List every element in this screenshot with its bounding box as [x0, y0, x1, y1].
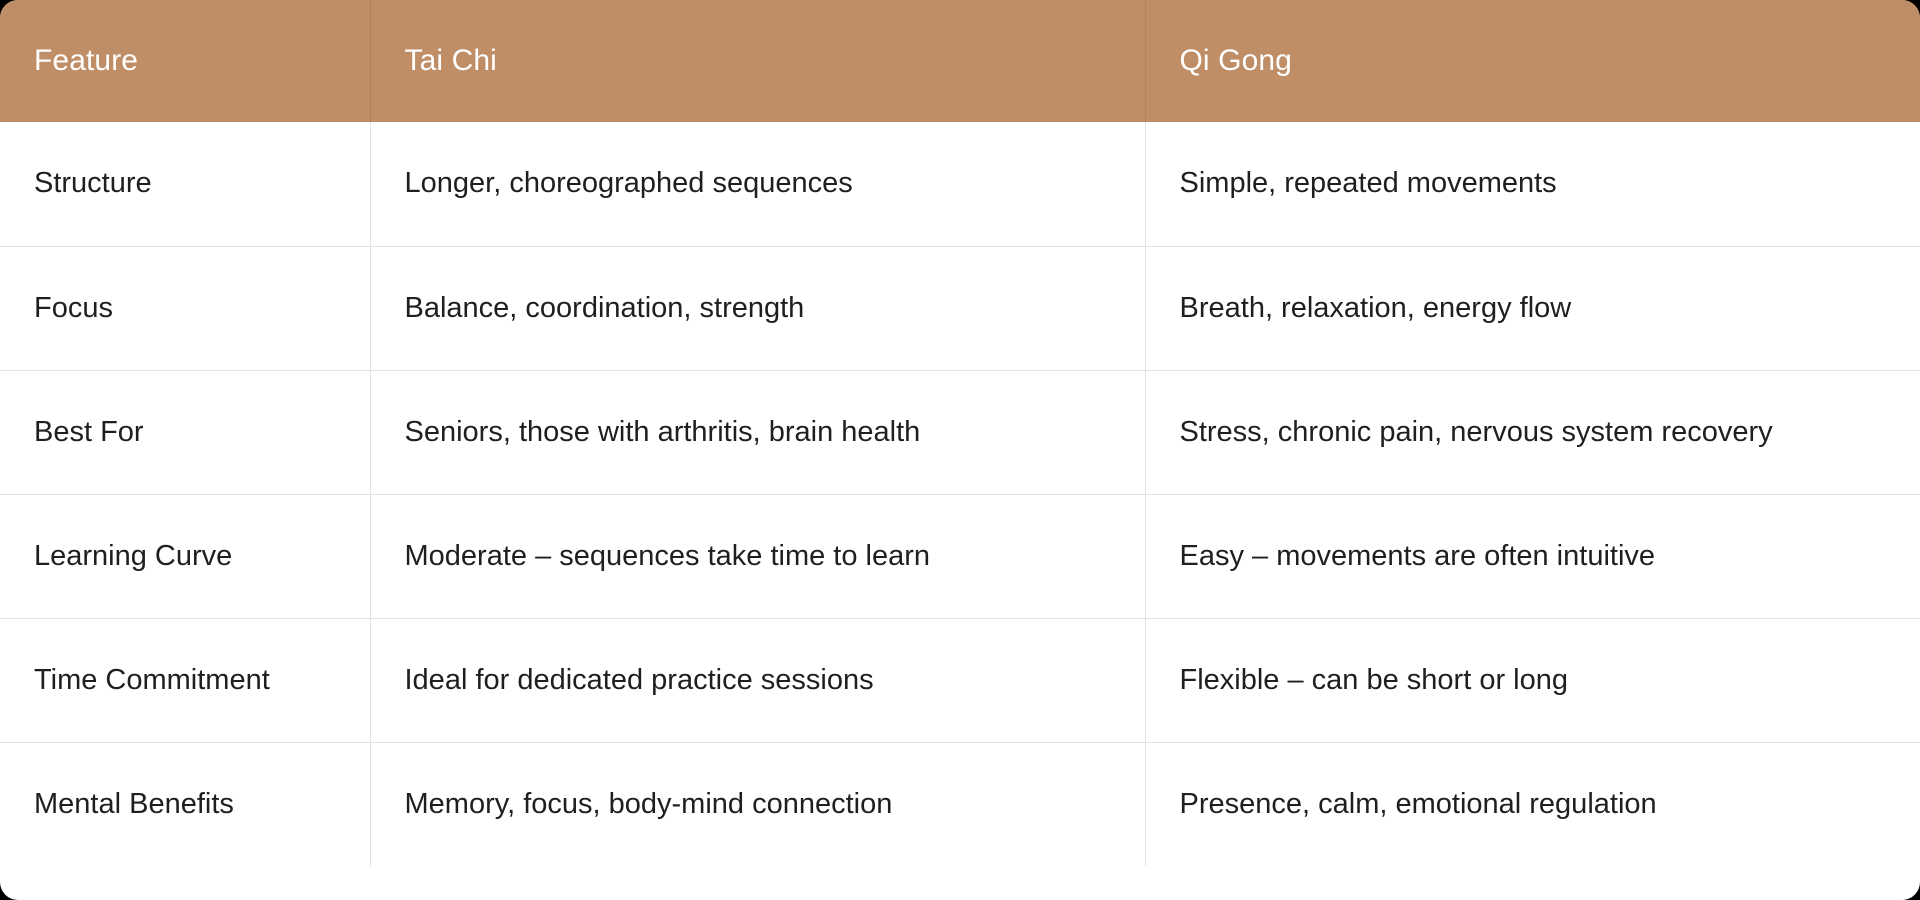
cell-feature: Learning Curve [0, 494, 370, 618]
cell-qi-gong: Breath, relaxation, energy flow [1145, 246, 1920, 370]
table-row: Structure Longer, choreographed sequence… [0, 122, 1920, 246]
cell-feature: Best For [0, 370, 370, 494]
cell-qi-gong: Presence, calm, emotional regulation [1145, 742, 1920, 866]
table-row: Focus Balance, coordination, strength Br… [0, 246, 1920, 370]
column-header-feature: Feature [0, 0, 370, 122]
table-row: Mental Benefits Memory, focus, body-mind… [0, 742, 1920, 866]
cell-qi-gong: Stress, chronic pain, nervous system rec… [1145, 370, 1920, 494]
table-row: Time Commitment Ideal for dedicated prac… [0, 618, 1920, 742]
table-body: Structure Longer, choreographed sequence… [0, 122, 1920, 866]
cell-qi-gong: Flexible – can be short or long [1145, 618, 1920, 742]
cell-feature: Time Commitment [0, 618, 370, 742]
table-header: Feature Tai Chi Qi Gong [0, 0, 1920, 122]
comparison-table-card: Feature Tai Chi Qi Gong Structure Longer… [0, 0, 1920, 900]
table-header-row: Feature Tai Chi Qi Gong [0, 0, 1920, 122]
cell-tai-chi: Memory, focus, body-mind connection [370, 742, 1145, 866]
cell-tai-chi: Seniors, those with arthritis, brain hea… [370, 370, 1145, 494]
cell-feature: Mental Benefits [0, 742, 370, 866]
tai-chi-qi-gong-comparison-table: Feature Tai Chi Qi Gong Structure Longer… [0, 0, 1920, 866]
cell-feature: Structure [0, 122, 370, 246]
cell-tai-chi: Ideal for dedicated practice sessions [370, 618, 1145, 742]
cell-qi-gong: Easy – movements are often intuitive [1145, 494, 1920, 618]
table-row: Best For Seniors, those with arthritis, … [0, 370, 1920, 494]
cell-tai-chi: Longer, choreographed sequences [370, 122, 1145, 246]
cell-tai-chi: Balance, coordination, strength [370, 246, 1145, 370]
cell-feature: Focus [0, 246, 370, 370]
column-header-tai-chi: Tai Chi [370, 0, 1145, 122]
table-row: Learning Curve Moderate – sequences take… [0, 494, 1920, 618]
cell-qi-gong: Simple, repeated movements [1145, 122, 1920, 246]
column-header-qi-gong: Qi Gong [1145, 0, 1920, 122]
cell-tai-chi: Moderate – sequences take time to learn [370, 494, 1145, 618]
